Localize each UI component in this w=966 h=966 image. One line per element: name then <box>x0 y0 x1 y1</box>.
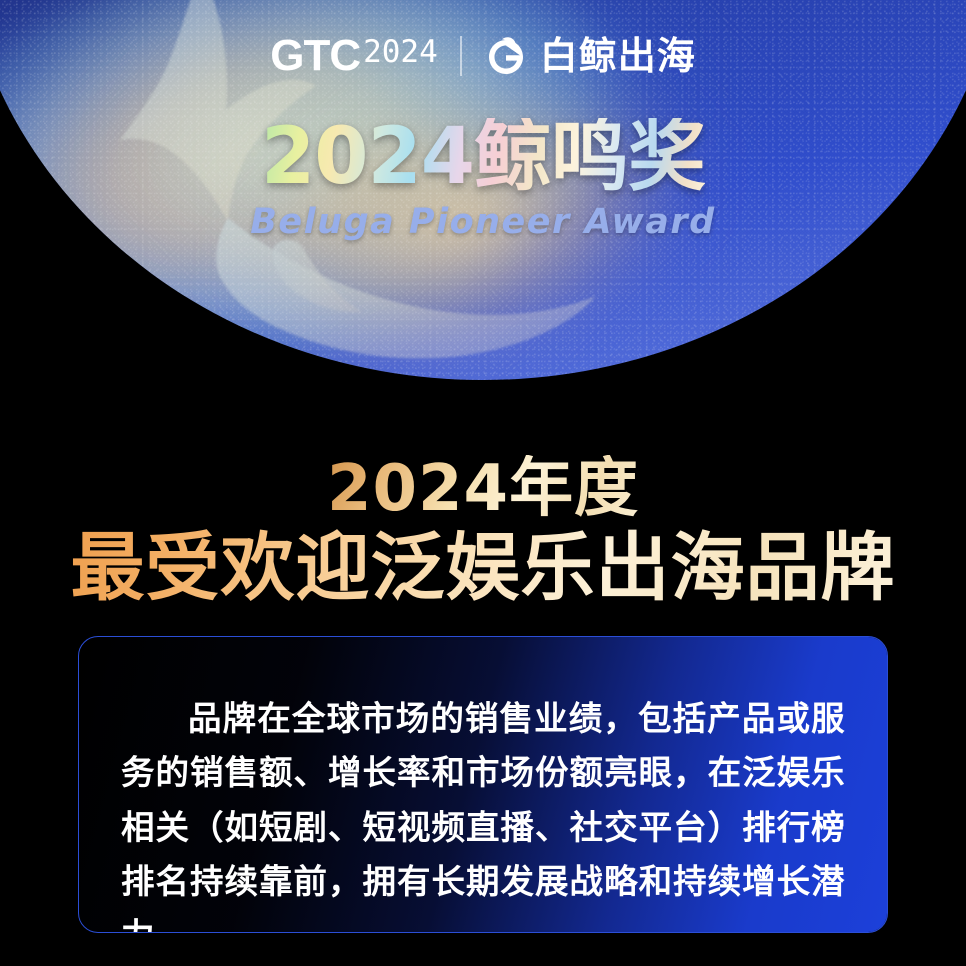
description-text: 品牌在全球市场的销售业绩，包括产品或服务的销售额、增长率和市场份额亮眼，在泛娱乐… <box>79 637 887 933</box>
gtc-logo-text: GTC <box>270 34 360 78</box>
headline-line-1: 2024年度 <box>327 455 639 524</box>
award-title-en: Beluga Pioneer Award <box>0 202 966 242</box>
award-title-block: 2024鲸鸣奖 Beluga Pioneer Award <box>0 118 966 242</box>
header-logo-row: GTC 2024 白鲸出海 <box>0 34 966 78</box>
headline-line-2: 最受欢迎泛娱乐出海品牌 <box>71 528 896 609</box>
gtc-year-text: 2024 <box>363 34 438 70</box>
beluga-g-logo-icon <box>484 34 528 78</box>
brand-name-cn: 白鲸出海 <box>540 37 696 75</box>
award-poster: GTC 2024 白鲸出海 2024鲸鸣奖 Beluga Pioneer Awa… <box>0 0 966 966</box>
vertical-divider-icon <box>460 36 462 76</box>
description-box: 品牌在全球市场的销售业绩，包括产品或服务的销售额、增长率和市场份额亮眼，在泛娱乐… <box>78 636 888 933</box>
award-title-cn: 2024鲸鸣奖 <box>261 118 705 196</box>
page-title: 2024年度 最受欢迎泛娱乐出海品牌 <box>0 455 966 610</box>
